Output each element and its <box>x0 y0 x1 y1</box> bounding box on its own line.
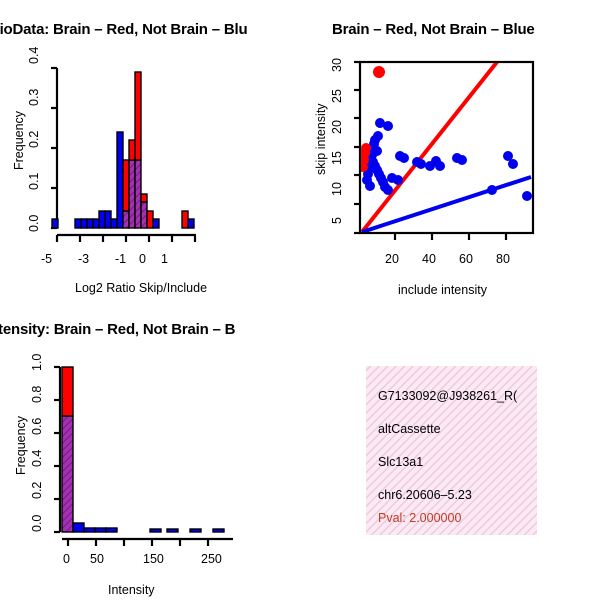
info-pval: Pval: 2.000000 <box>378 511 461 525</box>
info-probe-id: G7133092@J938261_R( <box>378 389 517 403</box>
panel-info: G7133092@J938261_R( altCassette Slc13a1 … <box>300 300 600 600</box>
panel-ratio-histogram: RatioData: Brain – Red, Not Brain – Blu … <box>0 0 300 300</box>
figure-canvas: RatioData: Brain – Red, Not Brain – Blu … <box>0 0 600 600</box>
ratio-histogram-plot <box>0 0 300 300</box>
scatter-plot <box>300 0 600 300</box>
info-location: chr6.20606–5.23 <box>378 488 472 502</box>
panel-gene-intensity-histogram: ne Itensity: Brain – Red, Not Brain – B … <box>0 300 300 600</box>
ratio-bars <box>52 72 194 228</box>
info-box-background <box>300 300 600 600</box>
info-gene-symbol: Slc13a1 <box>378 455 423 469</box>
info-event-type: altCassette <box>378 422 441 436</box>
not-brain-points <box>362 118 532 201</box>
gene-intensity-plot <box>0 300 300 600</box>
gene-intensity-bars <box>62 367 224 532</box>
gene-intensity-axes <box>54 367 233 546</box>
panel-intensity-scatter: Brain – Red, Not Brain – Blue skip inten… <box>300 0 600 300</box>
scatter-frame <box>360 62 533 233</box>
brain-trend-line <box>362 62 497 232</box>
